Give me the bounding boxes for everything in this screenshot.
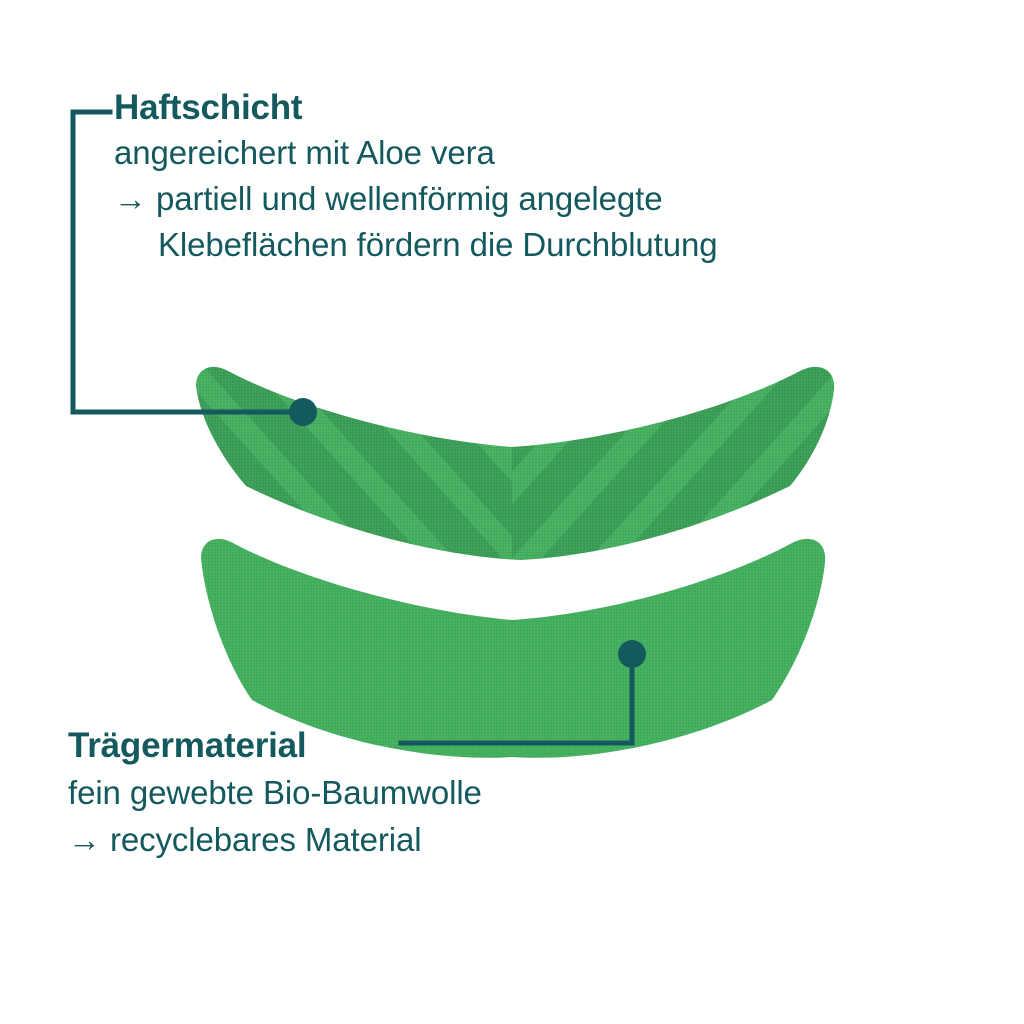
backing-layer-marker-dot <box>618 640 646 668</box>
callout-haftschicht-line-1: angereichert mit Aloe vera <box>114 130 718 176</box>
infographic-canvas: Haftschicht angereichert mit Aloe vera →… <box>0 0 1024 1024</box>
callout-traegermaterial-line-1: fein gewebte Bio-Baumwolle <box>68 769 482 816</box>
callout-haftschicht-title: Haftschicht <box>114 86 718 130</box>
adhesive-layer-marker-dot <box>289 398 317 426</box>
callout-traegermaterial-line-2: → recyclebares Material <box>68 816 482 863</box>
callout-traegermaterial: Trägermaterial fein gewebte Bio-Baumwoll… <box>68 723 482 863</box>
callout-haftschicht: Haftschicht angereichert mit Aloe vera →… <box>114 86 718 268</box>
callout-haftschicht-line-2: → partiell und wellenförmig angelegte <box>114 176 718 222</box>
callout-traegermaterial-title: Trägermaterial <box>68 723 482 769</box>
callout-haftschicht-line-3: Klebeflächen fördern die Durchblutung <box>114 222 718 268</box>
